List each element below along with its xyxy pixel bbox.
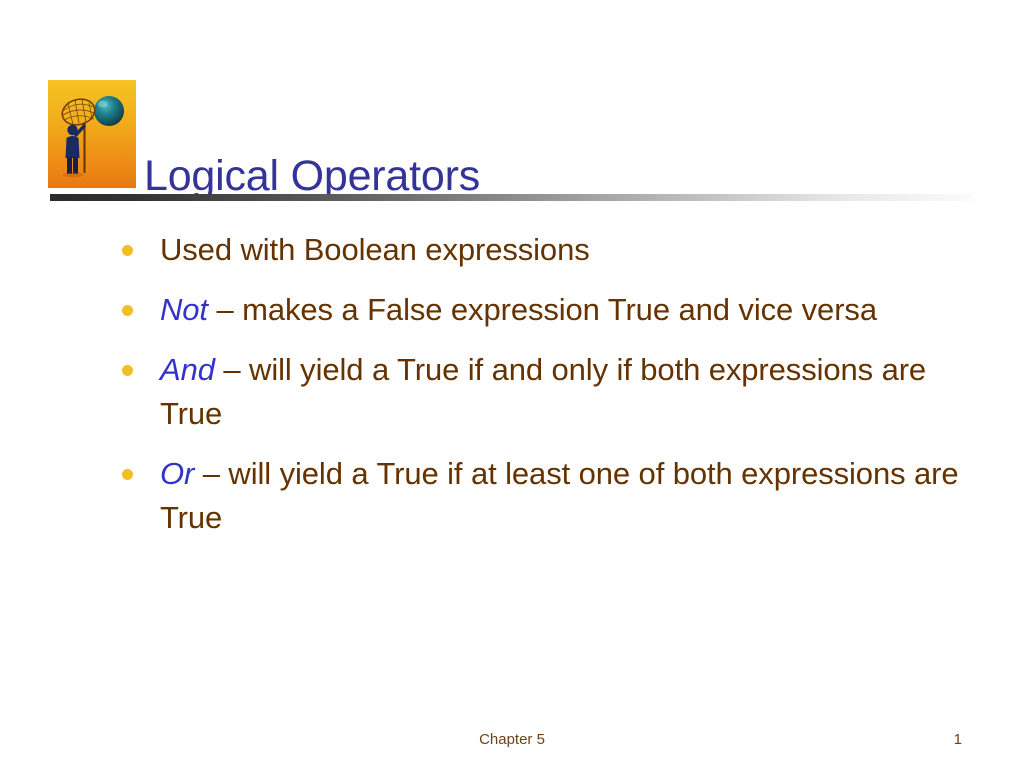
list-item-body: – will yield a True if at least one of b… [160, 456, 959, 535]
slide-number: 1 [954, 730, 962, 750]
list-item-text: Not – makes a False expression True and … [160, 288, 984, 332]
list-item: Used with Boolean expressions [0, 228, 1024, 272]
man-with-butterfly-net-catching-sphere-icon [48, 80, 136, 188]
list-item-keyword: Not [160, 292, 208, 327]
bullet-dot-icon [122, 365, 133, 376]
slide-footer: Chapter 5 1 [0, 728, 1024, 754]
list-item-text: Used with Boolean expressions [160, 228, 984, 272]
list-item-body: Used with Boolean expressions [160, 232, 590, 267]
bullet-dot-icon [122, 305, 133, 316]
title-logo-image [48, 80, 136, 188]
bullet-list: Used with Boolean expressions Not – make… [0, 228, 1024, 556]
list-item-body: – makes a False expression True and vice… [208, 292, 877, 327]
list-item: Not – makes a False expression True and … [0, 288, 1024, 332]
list-item: Or – will yield a True if at least one o… [0, 452, 1024, 540]
title-divider [50, 194, 972, 201]
footer-chapter-label: Chapter 5 [0, 730, 1024, 750]
list-item: And – will yield a True if and only if b… [0, 348, 1024, 436]
list-item-text: Or – will yield a True if at least one o… [160, 452, 984, 540]
bullet-dot-icon [122, 245, 133, 256]
list-item-keyword: Or [160, 456, 194, 491]
list-item-keyword: And [160, 352, 215, 387]
bullet-dot-icon [122, 469, 133, 480]
slide: Logical Operators Used with Boolean expr… [0, 0, 1024, 768]
list-item-text: And – will yield a True if and only if b… [160, 348, 984, 436]
list-item-body: – will yield a True if and only if both … [160, 352, 926, 431]
slide-header: Logical Operators [0, 0, 1024, 205]
